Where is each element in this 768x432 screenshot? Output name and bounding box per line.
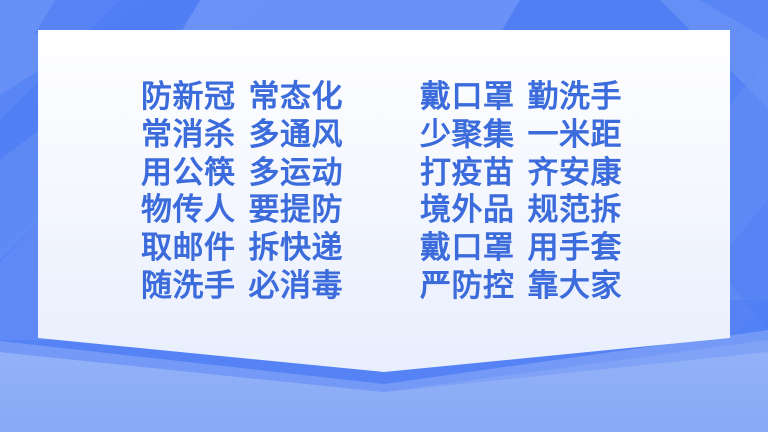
slogan-row: 物传人 要提防 (141, 192, 343, 230)
slogan-phrase: 物传人 (141, 192, 236, 230)
slogan-row: 随洗手 必消毒 (141, 268, 343, 306)
slogan-phrase: 一米距 (528, 117, 623, 155)
slogan-phrase: 要提防 (249, 192, 344, 230)
slogan-phrase: 多运动 (249, 155, 344, 193)
slogan-phrase: 戴口罩 (420, 79, 515, 117)
slogan-row: 打疫苗 齐安康 (420, 155, 622, 193)
slogan-phrase: 规范拆 (528, 192, 623, 230)
slogan-row: 境外品 规范拆 (420, 192, 622, 230)
slogan-row: 取邮件 拆快递 (141, 230, 343, 268)
right-column: 戴口罩 勤洗手 少聚集 一米距 打疫苗 齐安康 境外品 规范拆 戴口罩 (420, 79, 622, 306)
slogan-row: 防新冠 常态化 (141, 79, 343, 117)
slogan-phrase: 靠大家 (528, 268, 623, 306)
slogan-phrase: 必消毒 (249, 268, 344, 306)
slogan-phrase: 常消杀 (141, 117, 236, 155)
slogan-phrase: 齐安康 (528, 155, 623, 193)
slogan-phrase: 随洗手 (141, 268, 236, 306)
poster-canvas: 防新冠 常态化 常消杀 多通风 用公筷 多运动 物传人 要提防 取邮件 (0, 0, 768, 432)
slogan-grid: 防新冠 常态化 常消杀 多通风 用公筷 多运动 物传人 要提防 取邮件 (0, 0, 768, 432)
slogan-phrase: 多通风 (249, 117, 344, 155)
slogan-row: 少聚集 一米距 (420, 117, 622, 155)
slogan-phrase: 境外品 (420, 192, 515, 230)
slogan-phrase: 取邮件 (141, 230, 236, 268)
slogan-phrase: 拆快递 (249, 230, 344, 268)
slogan-row: 严防控 靠大家 (420, 268, 622, 306)
slogan-phrase: 少聚集 (420, 117, 515, 155)
slogan-row: 戴口罩 勤洗手 (420, 79, 622, 117)
slogan-phrase: 打疫苗 (420, 155, 515, 193)
slogan-phrase: 防新冠 (141, 79, 236, 117)
slogan-row: 用公筷 多运动 (141, 155, 343, 193)
slogan-phrase: 勤洗手 (528, 79, 623, 117)
slogan-phrase: 戴口罩 (420, 230, 515, 268)
left-column: 防新冠 常态化 常消杀 多通风 用公筷 多运动 物传人 要提防 取邮件 (141, 79, 343, 306)
slogan-row: 常消杀 多通风 (141, 117, 343, 155)
slogan-phrase: 用公筷 (141, 155, 236, 193)
slogan-phrase: 用手套 (528, 230, 623, 268)
slogan-phrase: 严防控 (420, 268, 515, 306)
slogan-phrase: 常态化 (249, 79, 344, 117)
slogan-row: 戴口罩 用手套 (420, 230, 622, 268)
